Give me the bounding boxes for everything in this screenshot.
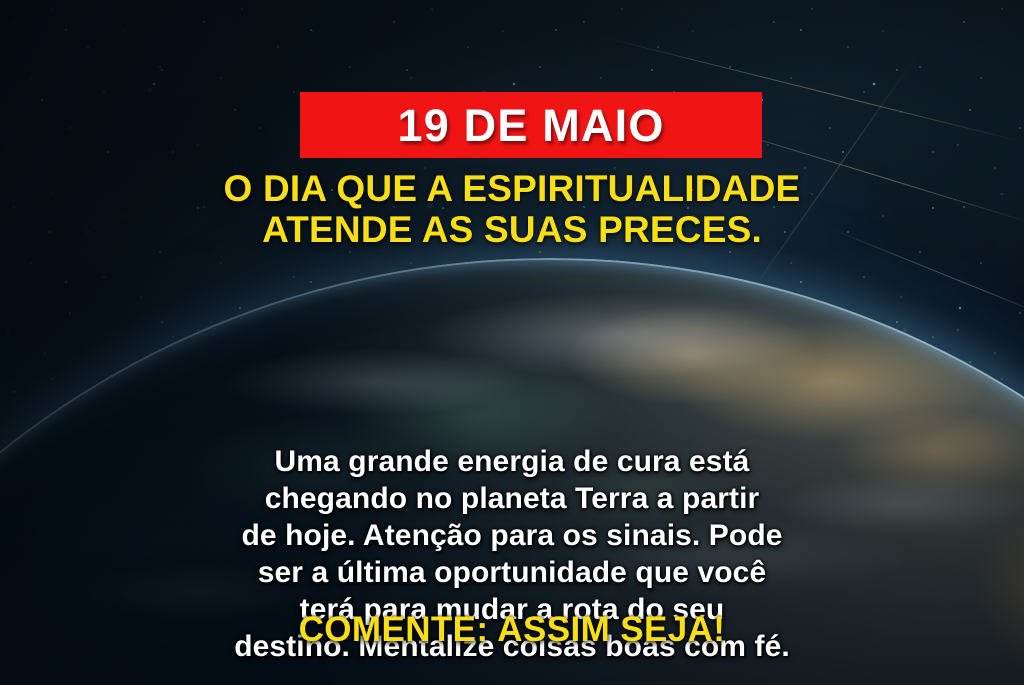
headline-line-2: ATENDE AS SUAS PRECES.: [0, 209, 1024, 250]
date-banner-label: 19 DE MAIO: [397, 103, 664, 148]
date-banner: 19 DE MAIO: [300, 92, 762, 158]
body-copy-line-2: chegando no planeta Terra a partir: [52, 480, 972, 517]
poster-content: 19 DE MAIO O DIA QUE A ESPIRITUALIDADE A…: [0, 0, 1024, 685]
headline-line-1: O DIA QUE A ESPIRITUALIDADE: [0, 168, 1024, 209]
headline: O DIA QUE A ESPIRITUALIDADE ATENDE AS SU…: [0, 168, 1024, 251]
call-to-action-label: COMENTE: ASSIM SEJA!: [299, 610, 726, 649]
body-copy-line-1: Uma grande energia de cura está: [52, 443, 972, 480]
call-to-action: COMENTE: ASSIM SEJA!: [0, 612, 1024, 647]
poster-canvas: 19 DE MAIO O DIA QUE A ESPIRITUALIDADE A…: [0, 0, 1024, 685]
body-copy-line-4: ser a última oportunidade que você: [52, 554, 972, 591]
body-copy-line-3: de hoje. Atenção para os sinais. Pode: [52, 517, 972, 554]
